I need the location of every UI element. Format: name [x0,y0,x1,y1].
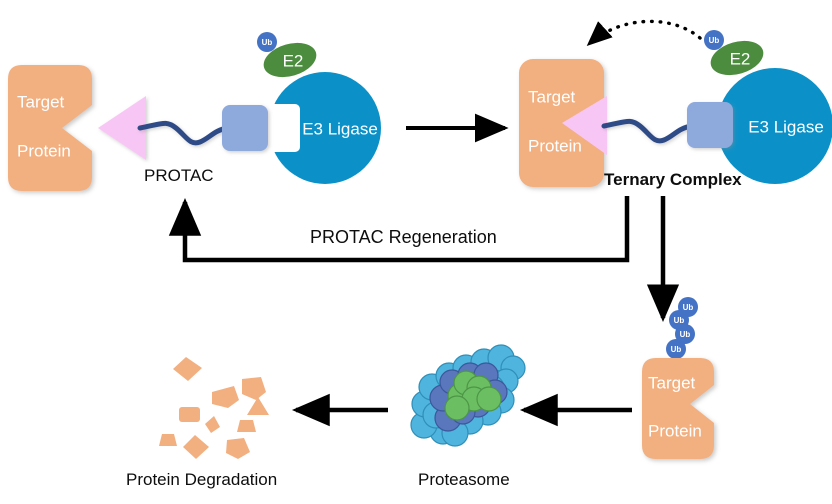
protein-fragment [205,416,220,433]
target-protein-label-line2: Protein [648,421,702,440]
target-protein-label-line1: Target [528,87,576,106]
ubiquitin-label: Ub [680,330,691,339]
protein-fragment [226,438,250,459]
ubiquitin-label: Ub [262,38,273,47]
target-protein-left: Target Protein [8,65,92,191]
e3-ligase-label: E3 Ligase [748,118,824,137]
e2-label: E2 [283,52,304,71]
label-proteasome: Proteasome [418,470,510,490]
e2-label: E2 [730,50,751,69]
arrow-ubiquitin-transfer [589,21,700,44]
target-protein-label-line2: Protein [17,141,71,160]
ubiquitin-label: Ub [671,345,682,354]
protein-fragment [237,420,256,432]
protac-linker-right [604,121,692,141]
protein-fragment [183,435,209,459]
protein-fragment [173,357,202,381]
target-protein-label-line2: Protein [528,136,582,155]
e3-ligase-left: E3 Ligase [262,72,381,184]
proteasome-subunit [445,396,469,420]
e3-ligase-label: E3 Ligase [302,120,378,139]
protac-linker-left [140,123,228,143]
protein-fragment [212,386,239,408]
protein-fragment [179,407,200,422]
diagram-canvas: Target Protein E3 Ligase E2 Ub [0,0,832,504]
target-protein-shape [8,65,92,191]
ubiquitin-label: Ub [709,36,720,45]
label-ternary-complex: Ternary Complex [604,170,742,190]
protac-ligand-square-right [687,102,733,148]
protein-fragment [159,434,177,446]
protein-fragments [159,357,269,459]
label-protac-regeneration: PROTAC Regeneration [310,227,497,248]
ubiquitin-chain: Ub Ub Ub Ub [666,297,698,359]
target-protein-label-line1: Target [17,92,65,111]
protac-cycle-svg: Target Protein E3 Ligase E2 Ub [0,0,832,504]
target-protein-ubiquitinated: Target Protein [642,358,714,459]
target-protein-label-line1: Target [648,373,696,392]
protein-fragment [242,377,266,400]
ubiquitin-label: Ub [683,303,694,312]
label-protein-degradation: Protein Degradation [126,470,277,490]
proteasome-subunit [477,387,501,411]
proteasome-cluster [411,345,525,446]
ubiquitin-label: Ub [674,316,685,325]
protac-ligand-square-left [222,105,268,151]
label-protac: PROTAC [144,166,214,186]
e3-ligase-right: E3 Ligase [717,68,832,184]
protein-fragment [247,397,269,415]
